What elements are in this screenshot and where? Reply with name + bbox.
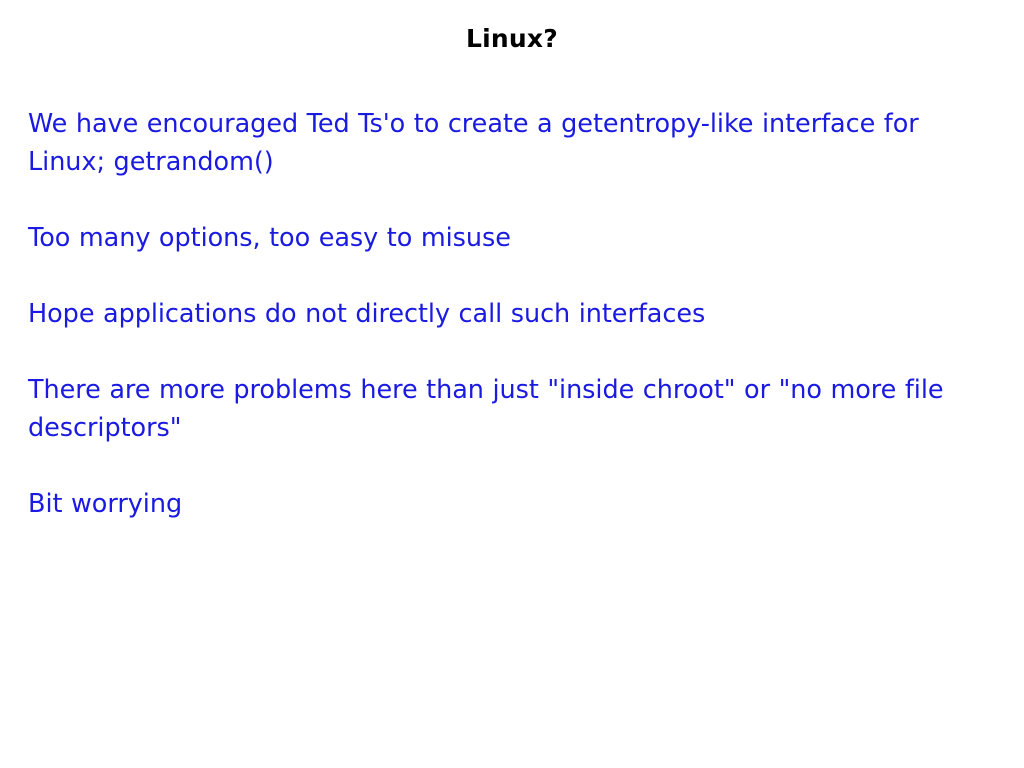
slide-title: Linux? [0, 24, 1024, 54]
presentation-slide: Linux? We have encouraged Ted Ts'o to cr… [0, 0, 1024, 768]
body-paragraph-5: Bit worrying [28, 485, 958, 523]
body-paragraph-1: We have encouraged Ted Ts'o to create a … [28, 105, 958, 181]
body-paragraph-3: Hope applications do not directly call s… [28, 295, 958, 333]
body-paragraph-2: Too many options, too easy to misuse [28, 219, 958, 257]
slide-body: We have encouraged Ted Ts'o to create a … [28, 105, 958, 523]
body-paragraph-4: There are more problems here than just "… [28, 371, 958, 447]
